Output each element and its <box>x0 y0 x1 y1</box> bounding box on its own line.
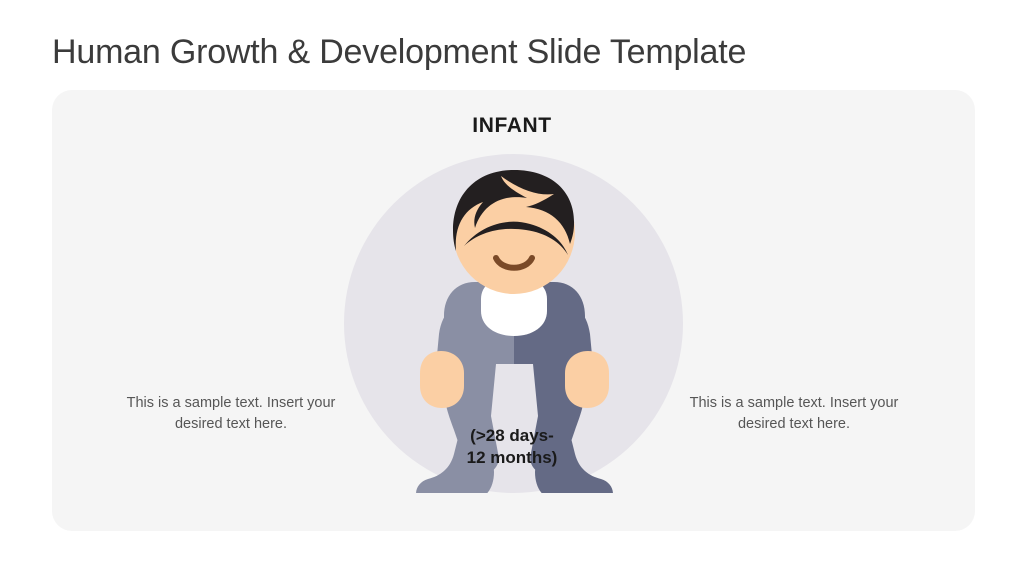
hand-right-icon <box>565 351 609 408</box>
stage-heading: INFANT <box>0 114 1024 138</box>
hand-left-icon <box>420 351 464 408</box>
sample-text-right: This is a sample text. Insert your desir… <box>676 393 912 434</box>
page-title: Human Growth & Development Slide Templat… <box>52 33 746 72</box>
sample-text-left: This is a sample text. Insert your desir… <box>113 393 349 434</box>
age-range-line-2: 12 months) <box>0 447 1024 469</box>
